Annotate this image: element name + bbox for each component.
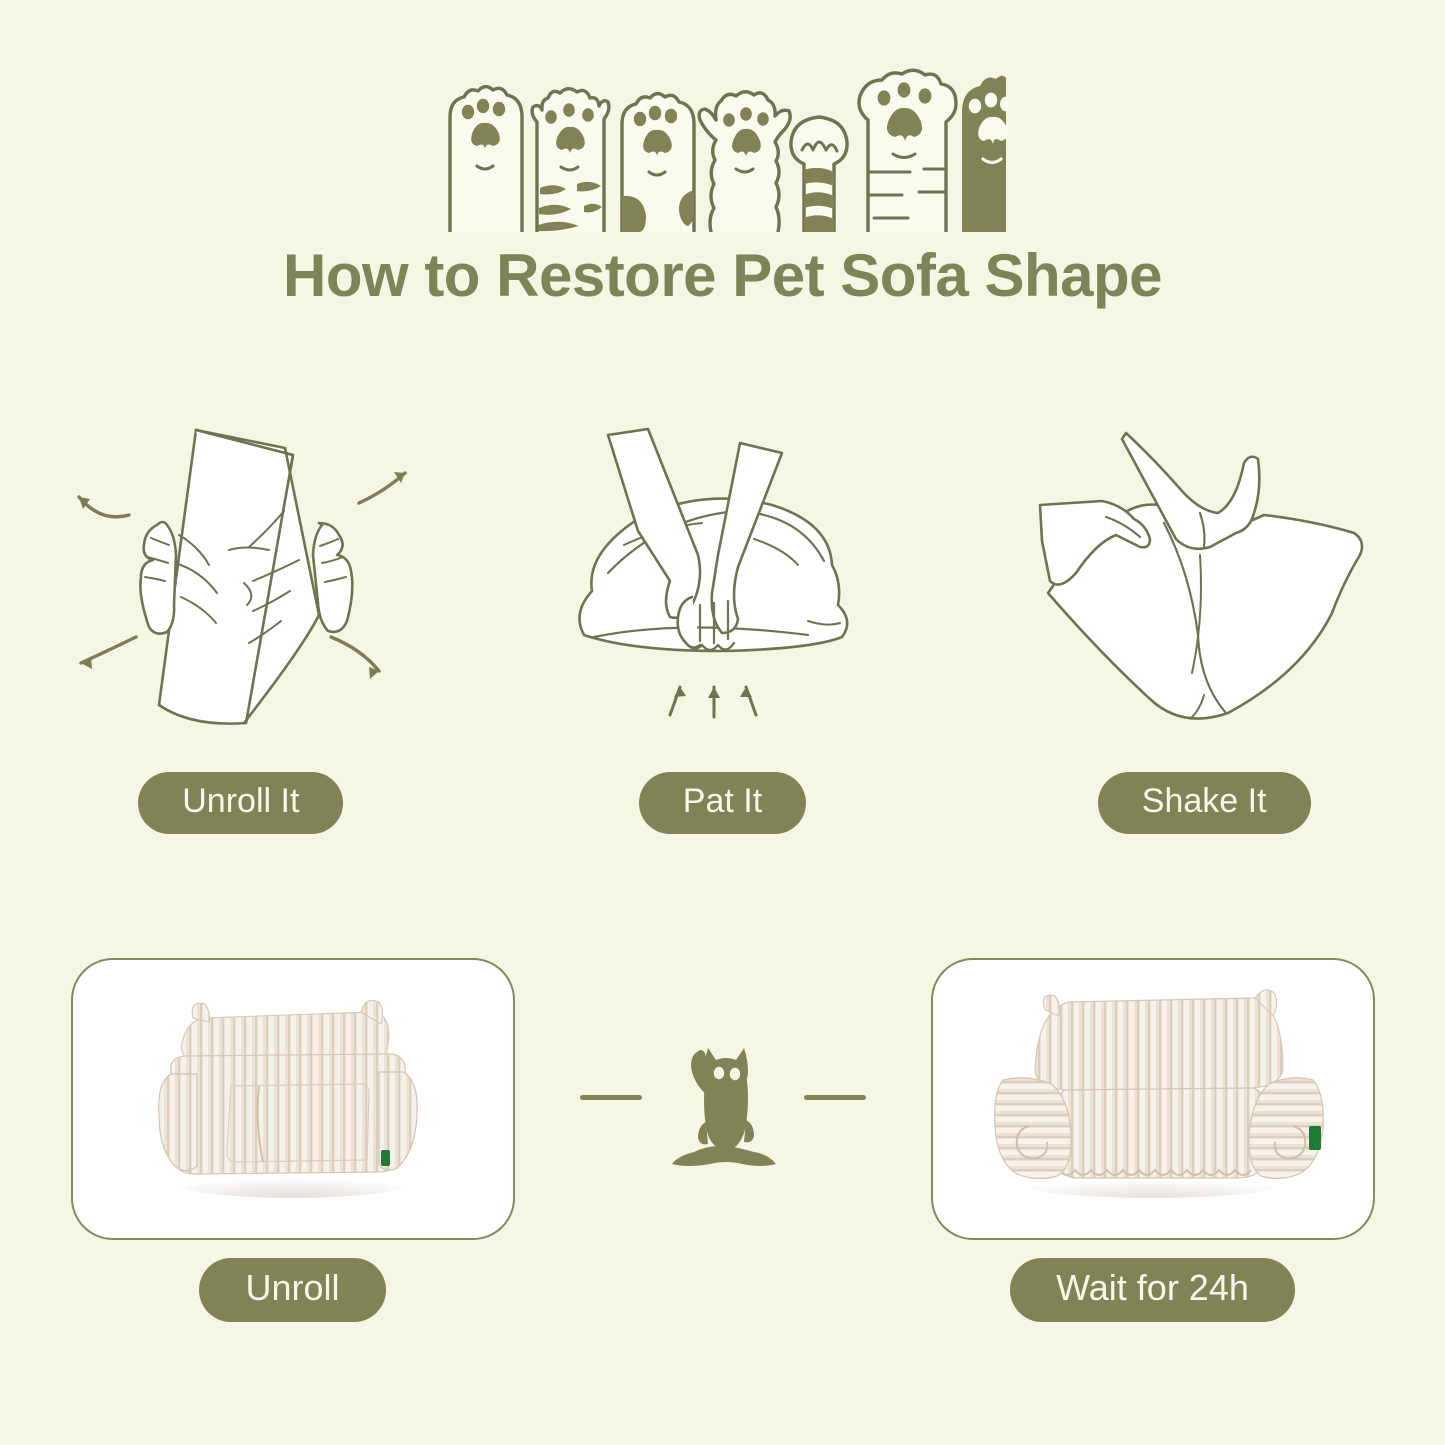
after-label: Wait for 24h	[1010, 1258, 1295, 1322]
paw-plain-icon	[450, 87, 522, 232]
before-label: Unroll	[199, 1258, 385, 1322]
before-after-row: Unroll	[0, 958, 1445, 1322]
page-title: How to Restore Pet Sofa Shape	[0, 246, 1445, 306]
cat-paws-banner	[0, 62, 1445, 232]
dash-left-icon	[580, 1095, 642, 1100]
steps-row: Unroll It	[0, 400, 1445, 834]
shake-illustration	[1014, 400, 1394, 740]
paw-fluffy-icon	[699, 92, 790, 232]
step-label-shake-it: Shake It	[1098, 772, 1311, 834]
paw-spotted-icon	[622, 94, 694, 232]
divider-with-cat	[513, 958, 933, 1236]
paw-dashed-icon	[859, 70, 956, 232]
step-pat-it: Pat It	[512, 400, 932, 834]
after-column: Wait for 24h	[933, 958, 1373, 1322]
dash-right-icon	[804, 1095, 866, 1100]
step-shake-it: Shake It	[994, 400, 1414, 834]
paw-striped-icon	[532, 89, 609, 232]
pat-illustration	[542, 400, 902, 740]
folded-bed-photo	[93, 974, 493, 1224]
before-photo-card	[71, 958, 515, 1240]
arrow-down-right	[331, 637, 379, 671]
unroll-illustration	[41, 400, 441, 740]
sitting-cat-icon	[664, 1026, 782, 1168]
paw-mitten-icon	[790, 117, 846, 232]
step-label-pat-it: Pat It	[639, 772, 806, 834]
paw-solid-icon	[962, 76, 1008, 232]
before-column: Unroll	[73, 958, 513, 1322]
restored-sofa-photo	[953, 974, 1353, 1224]
after-photo-card	[931, 958, 1375, 1240]
step-unroll-it: Unroll It	[31, 400, 451, 834]
step-label-unroll-it: Unroll It	[138, 772, 343, 834]
